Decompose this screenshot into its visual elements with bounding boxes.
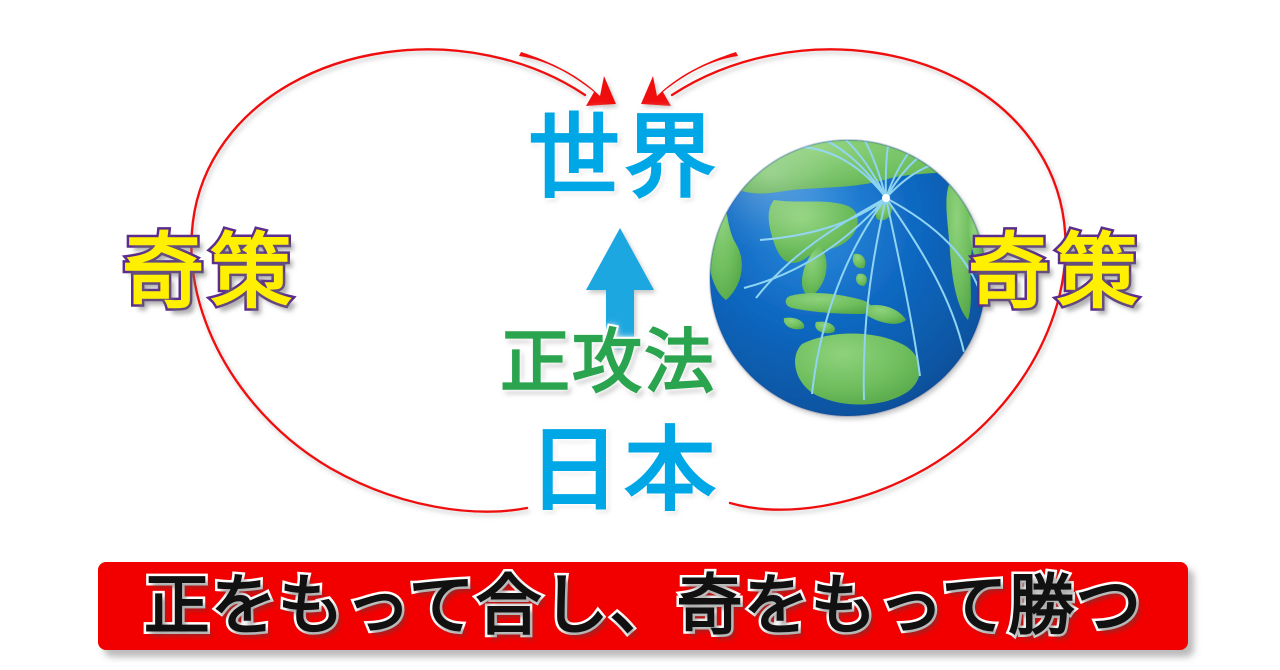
slogan-banner-text: 正をもって合し、奇をもって勝つ [144, 573, 1142, 639]
slogan-banner: 正をもって合し、奇をもって勝つ [98, 562, 1188, 650]
globe-rim [710, 140, 986, 416]
label-orthodox-method: 正攻法 [500, 327, 716, 397]
globe-network-hub [882, 194, 890, 202]
label-world: 世界 [528, 112, 720, 204]
diagram-canvas: 世界 正攻法 日本 奇策 奇策 正をもって合し、奇をもって勝つ [0, 0, 1280, 670]
globe-gloss [700, 130, 920, 314]
label-unconventional-strategy-right: 奇策 [968, 232, 1144, 314]
globe-network-arcs [716, 112, 986, 400]
globe-landmasses [708, 127, 992, 405]
curved-arrow-left-head [519, 52, 616, 106]
curved-arrow-right-head [641, 52, 738, 106]
globe-ocean [710, 140, 986, 416]
label-japan: 日本 [528, 425, 720, 517]
label-unconventional-strategy-left: 奇策 [122, 232, 298, 314]
